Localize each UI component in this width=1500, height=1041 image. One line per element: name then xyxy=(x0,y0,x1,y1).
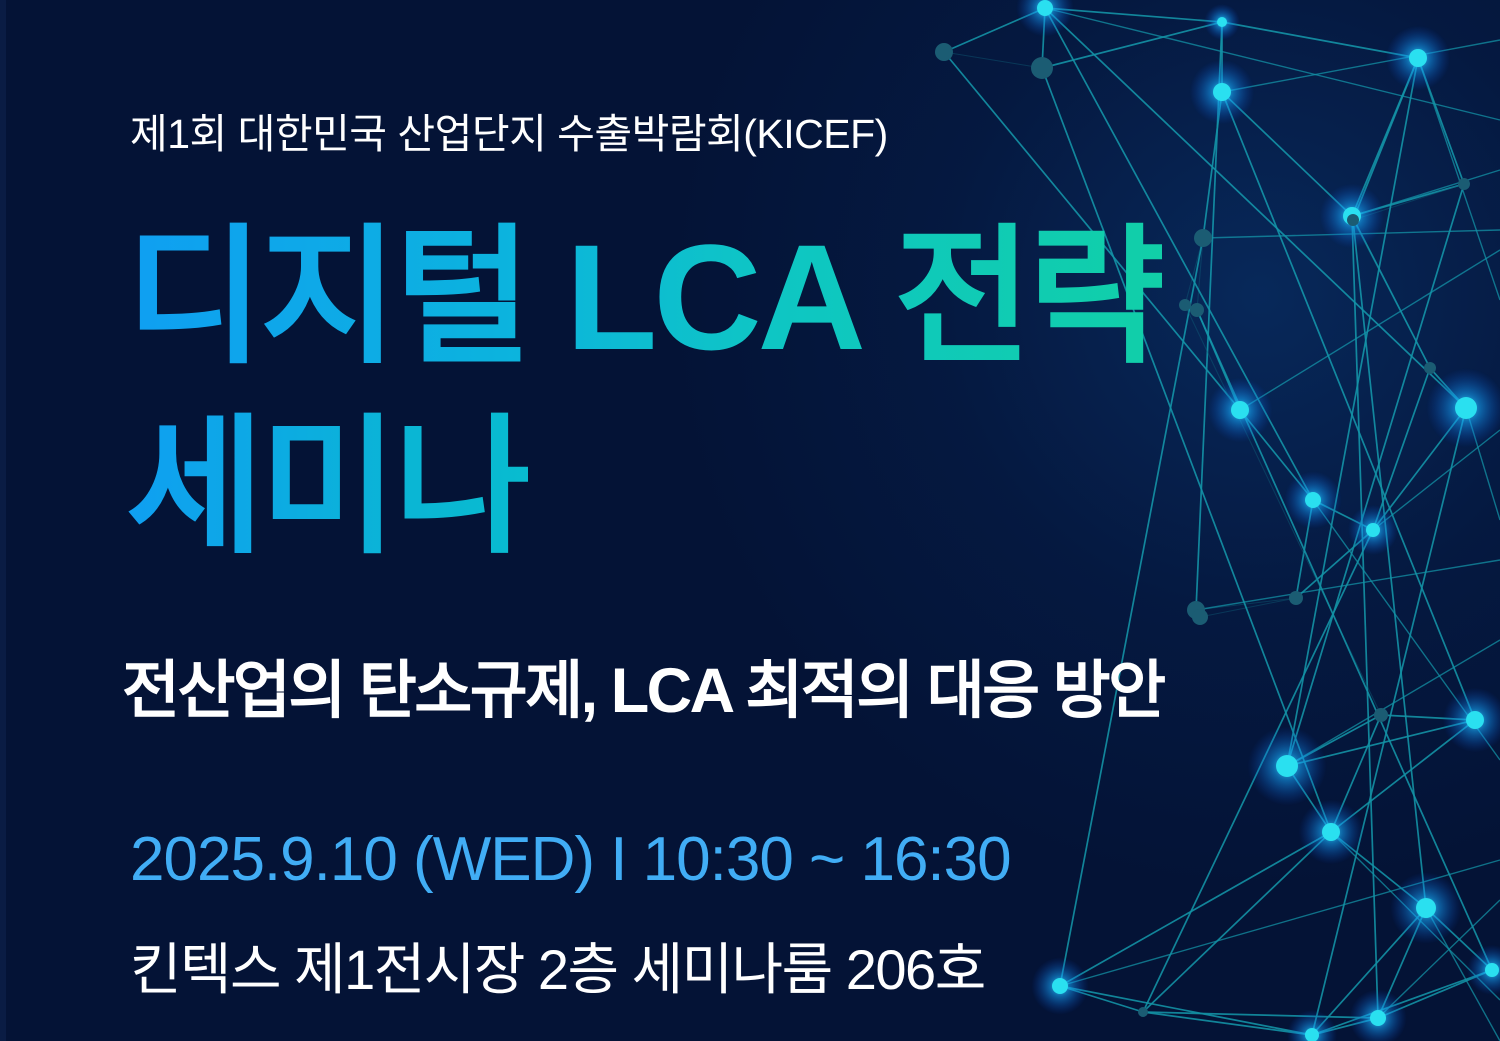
subtitle: 전산업의 탄소규제, LCA 최적의 대응 방안 xyxy=(122,640,1164,731)
page-title-line1: 디지털 LCA 전략 xyxy=(126,222,1162,372)
event-poster: 제1회 대한민국 산업단지 수출박람회(KICEF) 디지털 LCA 전략 세미… xyxy=(0,0,1500,1041)
event-venue: 킨텍스 제1전시장 2층 세미나룸 206호 xyxy=(130,925,985,1006)
page-title-line2: 세미나 xyxy=(126,412,528,562)
event-series-label: 제1회 대한민국 산업단지 수출박람회(KICEF) xyxy=(130,100,888,160)
event-datetime: 2025.9.10 (WED) I 10:30 ~ 16:30 xyxy=(130,824,1011,895)
